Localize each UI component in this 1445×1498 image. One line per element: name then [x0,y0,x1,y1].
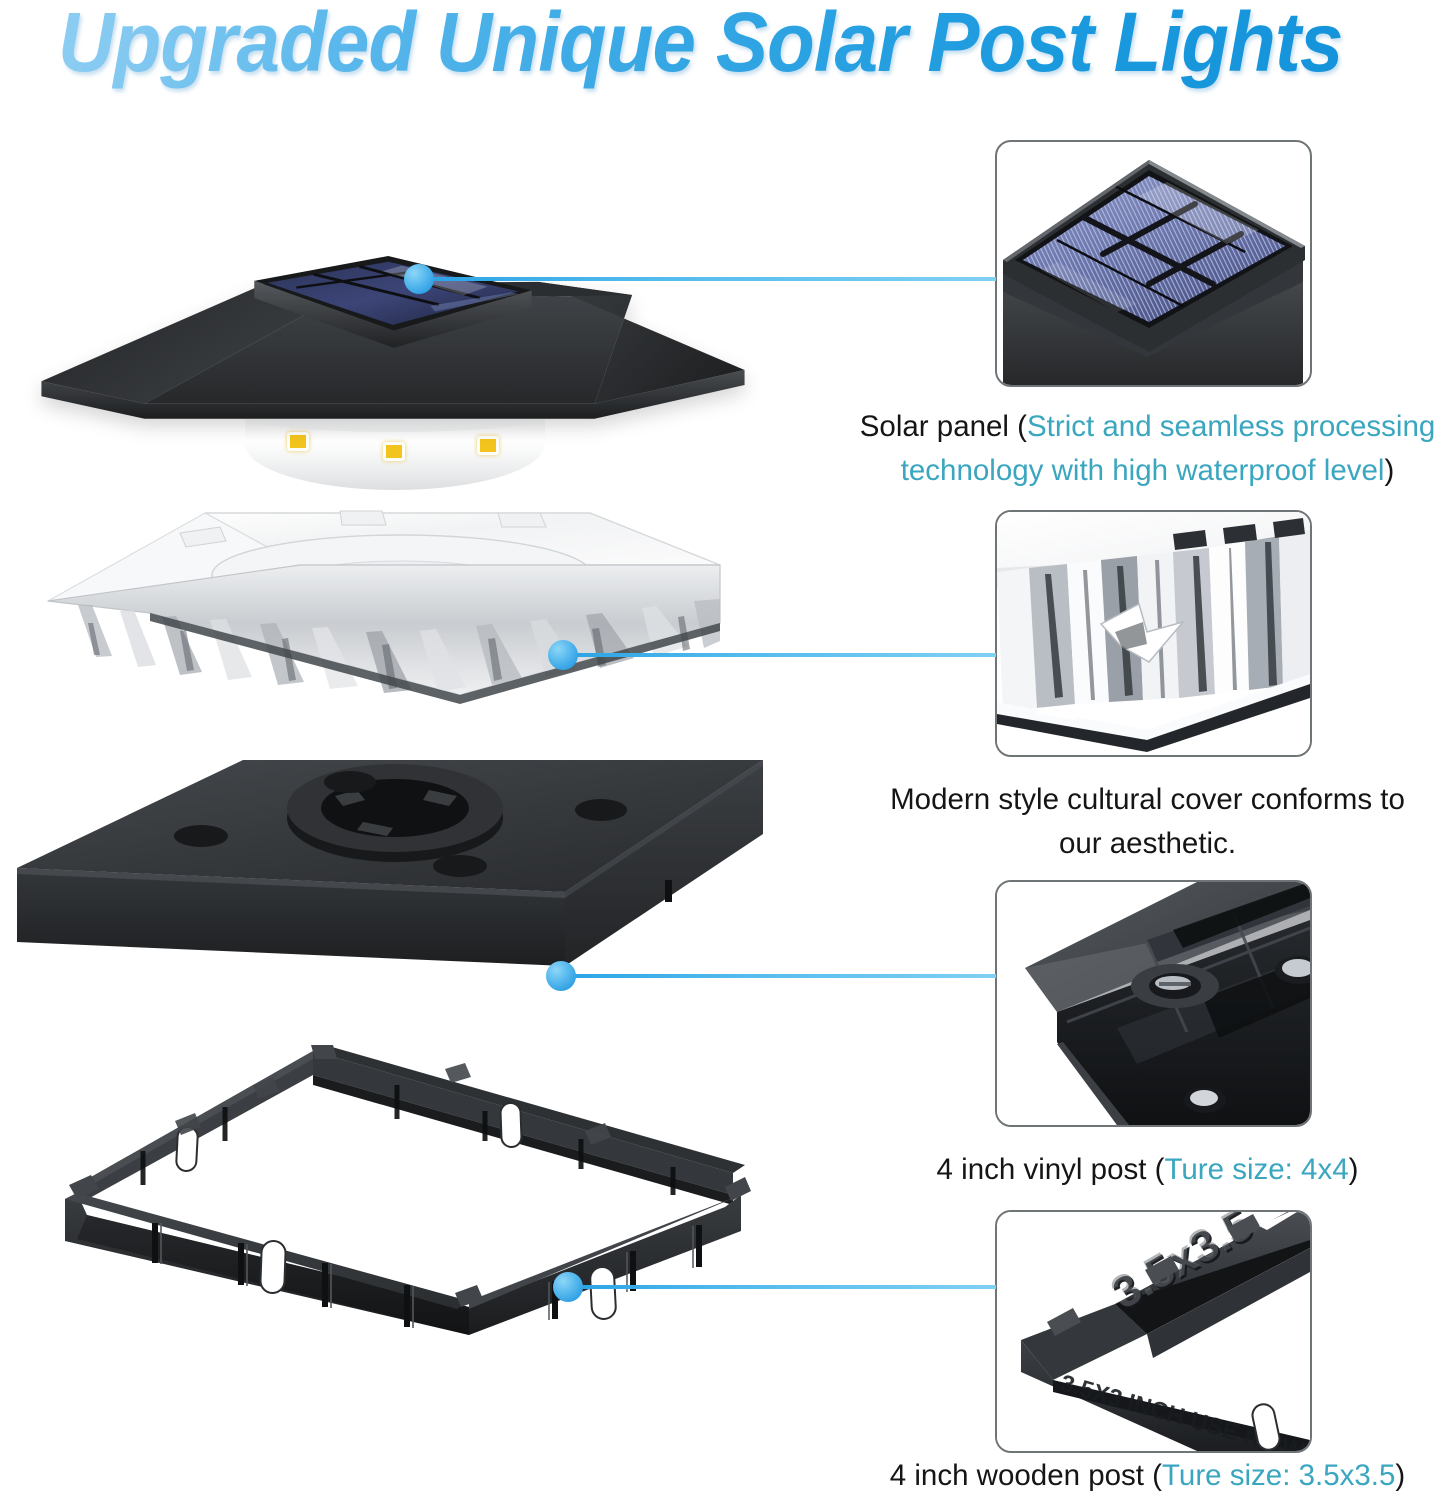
caption-vinyl-post-tail: ) [1349,1153,1359,1186]
screw-hole [174,825,228,847]
solar-panel-closeup-art [997,142,1310,385]
screw-hole [324,771,376,793]
caption-wooden-post-tail: ) [1395,1459,1405,1492]
callout-line-glass-cover [568,653,996,657]
post-adapter-shape [25,1045,755,1395]
exploded-part-post-adapter [25,1045,755,1395]
exploded-part-solar-cap [0,236,800,486]
caption-vinyl-post: 4 inch vinyl post (Ture size: 4x4) [850,1148,1445,1192]
inset-glass-cover-closeup [995,510,1312,757]
caption-glass-cover: Modern style cultural cover conforms to … [850,778,1445,867]
caption-wooden-post: 4 inch wooden post (Ture size: 3.5x3.5) [850,1454,1445,1498]
caption-glass-cover-line1: Modern style cultural cover conforms to [890,783,1405,816]
post-adapter-embossing-art: 3.5x3.5 3.5x3.5 3.5X3 INCH USE for W [997,1212,1310,1451]
screw-hole [433,855,487,877]
callout-line-wooden-post [573,1285,996,1289]
caption-solar-panel: Solar panel (Strict and seamless process… [850,405,1445,494]
callout-dot-wooden-post[interactable] [553,1272,583,1302]
exploded-part-base-plate [5,756,795,1041]
base-plate-shape [5,756,795,1041]
led-chip [287,432,309,451]
callout-line-solar-panel [424,277,996,281]
callout-line-vinyl-post [566,974,996,978]
solar-panel-on-cap [232,256,552,366]
caption-solar-panel-accent1: Strict and seamless processing [1027,410,1435,443]
led-chip [477,436,499,455]
caption-solar-panel-tail: ) [1384,454,1394,487]
callout-dot-vinyl-post[interactable] [546,961,576,991]
exploded-part-glass-cover [30,505,730,720]
inset-solar-panel-closeup [995,140,1312,387]
inset-base-plate-underside-closeup [995,880,1312,1127]
caption-vinyl-post-accent: Ture size: 4x4 [1164,1153,1348,1186]
glass-cover-closeup-art [997,512,1310,755]
caption-wooden-post-accent: Ture size: 3.5x3.5 [1162,1459,1395,1492]
led-chip [383,442,405,461]
inset-post-adapter-embossing-closeup: 3.5x3.5 3.5x3.5 3.5X3 INCH USE for W [995,1210,1312,1453]
glass-cover-shape [30,505,730,720]
product-diagram-stage: Solar panel (Strict and seamless process… [0,0,1445,1498]
callout-dot-solar-panel[interactable] [404,264,434,294]
caption-wooden-post-lead: 4 inch wooden post ( [890,1459,1162,1492]
caption-glass-cover-line2: our aesthetic. [1059,827,1236,860]
screw-hole [575,799,627,821]
caption-solar-panel-accent2: technology with high waterproof level [901,454,1385,487]
callout-dot-glass-cover[interactable] [548,640,578,670]
caption-solar-panel-lead: Solar panel ( [860,410,1027,443]
caption-vinyl-post-lead: 4 inch vinyl post ( [937,1153,1165,1186]
base-plate-underside-art [997,882,1310,1125]
